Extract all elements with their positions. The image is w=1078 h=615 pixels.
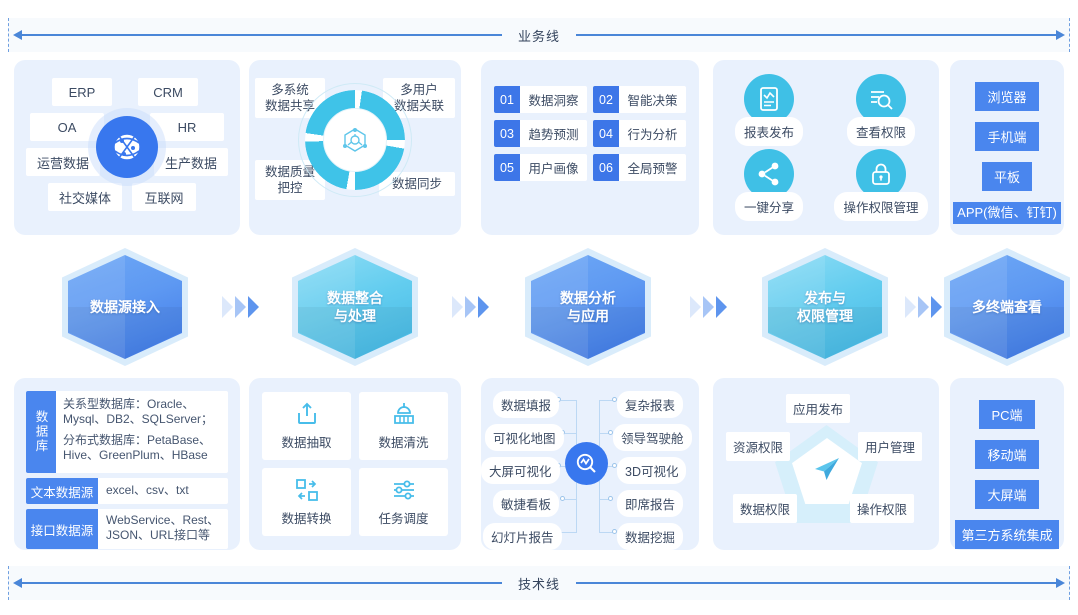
axis-line-left [22, 34, 502, 36]
flow-label-line-2: 与应用 [560, 307, 616, 325]
client-tag-list: PC端 移动端 大屏端 第三方系统集成 [950, 400, 1064, 549]
flow-step-label: 数据整合 与处理 [292, 248, 418, 366]
flow-step-label: 数据源接入 [62, 248, 188, 366]
analysis-item-03[interactable]: 03 趋势预测 [494, 120, 587, 147]
app-label-slide-report[interactable]: 幻灯片报告 [483, 523, 562, 550]
item-label: 趋势预测 [520, 124, 587, 143]
business-line-label: 业务线 [502, 26, 576, 45]
flow-label-line-1: 发布与 [797, 289, 853, 307]
item-number-badge: 01 [494, 86, 520, 113]
terminal-tag-browser[interactable]: 浏览器 [975, 82, 1038, 111]
app-label-agile-dashboard[interactable]: 敏捷看板 [493, 490, 559, 517]
processing-tile-label: 数据清洗 [378, 432, 428, 451]
technology-line-axis: 技术线 [8, 566, 1070, 600]
source-chip-production-data[interactable]: 生产数据 [154, 148, 228, 176]
panel-permission-management: 应用发布 资源权限 用户管理 数据权限 操作权限 [713, 378, 939, 550]
flow-step-data-analysis[interactable]: 数据分析 与应用 [525, 248, 651, 366]
flow-arrow-4 [905, 296, 942, 318]
app-label-data-entry[interactable]: 数据填报 [493, 391, 559, 418]
panel-data-sources-tech: 数据库 关系型数据库：Oracle、Mysql、DB2、SQLServer； 分… [14, 378, 240, 550]
db-row-value: excel、csv、txt [98, 478, 228, 504]
item-label: 行为分析 [619, 124, 686, 143]
mm-branch-l5 [561, 532, 577, 533]
integration-donut-chart [305, 90, 405, 190]
analysis-item-01[interactable]: 01 数据洞察 [494, 86, 587, 113]
db-row-database[interactable]: 数据库 关系型数据库：Oracle、Mysql、DB2、SQLServer； 分… [26, 391, 228, 473]
publish-item-view-permission[interactable]: 查看权限 [831, 74, 931, 146]
flow-step-multi-terminal-view[interactable]: 多终端查看 [944, 248, 1070, 366]
flow-step-label: 多终端查看 [944, 248, 1070, 366]
db-row-value: WebService、Rest、JSON、URL接口等 [98, 509, 228, 549]
chevron-icon [248, 296, 259, 318]
flow-step-label: 数据分析 与应用 [525, 248, 651, 366]
mm-branch-l2 [565, 433, 577, 434]
item-label: 智能决策 [619, 90, 686, 109]
processing-tile-extract[interactable]: 数据抽取 [262, 392, 351, 460]
item-label: 全局预警 [619, 158, 686, 177]
client-tag-mobile[interactable]: 移动端 [975, 440, 1038, 469]
client-tag-pc[interactable]: PC端 [979, 400, 1034, 429]
app-label-executive-cockpit[interactable]: 领导驾驶舱 [613, 424, 692, 451]
source-chip-crm[interactable]: CRM [138, 78, 198, 106]
item-label: 用户画像 [520, 158, 587, 177]
broom-clean-icon [391, 401, 417, 427]
network-globe-icon [96, 116, 158, 178]
business-line-axis: 业务线 [8, 18, 1070, 52]
flow-label-line-1: 数据源接入 [90, 298, 160, 316]
chevron-icon [478, 296, 489, 318]
client-tag-third-party[interactable]: 第三方系统集成 [955, 520, 1059, 549]
processing-tile-clean[interactable]: 数据清洗 [359, 392, 448, 460]
panel-data-application: 数据填报 可视化地图 大屏可视化 敏捷看板 幻灯片报告 复杂报表 领导驾驶舱 3… [481, 378, 699, 550]
item-label: 数据洞察 [520, 90, 587, 109]
axis-line-left [22, 582, 502, 584]
flow-arrow-3 [690, 296, 727, 318]
process-flow-row: 数据源接入 数据整合 与处理 [0, 248, 1078, 368]
app-label-adhoc-report[interactable]: 即席报告 [617, 490, 683, 517]
flow-label-line-1: 数据整合 [327, 289, 383, 307]
panel-terminals: 浏览器 手机端 平板 APP(微信、钉钉) [950, 60, 1064, 235]
axis-line-right [576, 582, 1056, 584]
app-label-data-mining[interactable]: 数据挖掘 [617, 523, 683, 550]
terminal-tag-mobile[interactable]: 手机端 [975, 122, 1038, 151]
chevron-icon [703, 296, 714, 318]
panel-data-sources: ERP CRM OA HR 运营数据 生产数据 社交媒体 互联网 [14, 60, 240, 235]
permission-label-data[interactable]: 数据权限 [733, 494, 797, 523]
arrow-right-icon [1056, 578, 1065, 588]
item-number-badge: 04 [593, 120, 619, 147]
technology-line-label: 技术线 [502, 574, 576, 593]
upload-extract-icon [294, 401, 320, 427]
data-hub-icon [323, 108, 387, 172]
db-row-value: 关系型数据库：Oracle、Mysql、DB2、SQLServer； 分布式数据… [56, 391, 228, 473]
terminal-tag-tablet[interactable]: 平板 [982, 162, 1032, 191]
flow-step-data-integration[interactable]: 数据整合 与处理 [292, 248, 418, 366]
publish-item-share[interactable]: 一键分享 [719, 149, 819, 221]
chevron-icon [905, 296, 916, 318]
source-chip-internet[interactable]: 互联网 [132, 183, 196, 211]
analysis-item-02[interactable]: 02 智能决策 [593, 86, 686, 113]
mm-node-dot [608, 496, 613, 501]
permission-label-app-publish[interactable]: 应用发布 [786, 394, 850, 423]
chevron-icon [235, 296, 246, 318]
source-chip-social-media[interactable]: 社交媒体 [48, 183, 122, 211]
panel-publish-permission: 报表发布 查看权限 一键分享 [713, 60, 939, 235]
panel-data-processing: 数据抽取 数据清洗 数据转换 [249, 378, 461, 550]
analysis-item-05[interactable]: 05 用户画像 [494, 154, 587, 181]
permission-label-operation[interactable]: 操作权限 [850, 494, 914, 523]
client-tag-bigscreen[interactable]: 大屏端 [975, 480, 1038, 509]
item-number-badge: 05 [494, 154, 520, 181]
terminal-tag-app[interactable]: APP(微信、钉钉) [953, 202, 1061, 224]
chevron-icon [465, 296, 476, 318]
flow-label-line-2: 权限管理 [797, 307, 853, 325]
chevron-icon [931, 296, 942, 318]
app-label-bigscreen-visual[interactable]: 大屏可视化 [481, 457, 560, 484]
mm-branch-l4 [565, 499, 577, 500]
publish-item-label: 一键分享 [735, 192, 803, 221]
sliders-schedule-icon [391, 477, 417, 503]
db-row-key: 文本数据源 [26, 478, 98, 504]
source-chip-operations-data[interactable]: 运营数据 [26, 148, 100, 176]
publish-item-label: 查看权限 [847, 117, 915, 146]
db-row-key: 数据库 [26, 391, 56, 473]
db-value-line: 关系型数据库：Oracle、Mysql、DB2、SQLServer； [63, 397, 221, 427]
db-row-api-source[interactable]: 接口数据源 WebService、Rest、JSON、URL接口等 [26, 509, 228, 549]
flow-label-line-1: 多终端查看 [972, 298, 1042, 316]
application-mindmap: 数据填报 可视化地图 大屏可视化 敏捷看板 幻灯片报告 复杂报表 领导驾驶舱 3… [481, 378, 699, 550]
analytics-magnifier-icon [565, 442, 608, 485]
db-row-key: 接口数据源 [26, 509, 98, 549]
mm-node-dot [560, 496, 565, 501]
flow-arrow-1 [222, 296, 259, 318]
flow-step-data-source-access[interactable]: 数据源接入 [62, 248, 188, 366]
db-row-text-source[interactable]: 文本数据源 excel、csv、txt [26, 478, 228, 504]
source-chip-erp[interactable]: ERP [52, 78, 112, 106]
panel-data-analysis: 01 数据洞察 02 智能决策 03 趋势预测 04 行为分析 05 用户画像 … [481, 60, 699, 235]
publish-item-label: 操作权限管理 [834, 192, 927, 221]
chevron-icon [716, 296, 727, 318]
analysis-item-06[interactable]: 06 全局预警 [593, 154, 686, 181]
processing-tile-label: 任务调度 [378, 508, 428, 527]
source-chip-oa[interactable]: OA [30, 113, 104, 141]
analysis-item-04[interactable]: 04 行为分析 [593, 120, 686, 147]
flow-label-line-2: 与处理 [327, 307, 383, 325]
source-chip-hr[interactable]: HR [150, 113, 224, 141]
permission-label-user-mgmt[interactable]: 用户管理 [858, 432, 922, 461]
mm-branch-l1 [561, 400, 577, 401]
chevron-icon [918, 296, 929, 318]
arrow-left-icon [13, 30, 22, 40]
processing-tile-schedule[interactable]: 任务调度 [359, 468, 448, 536]
item-number-badge: 03 [494, 120, 520, 147]
app-label-visual-map[interactable]: 可视化地图 [485, 424, 564, 451]
terminal-tag-list: 浏览器 手机端 平板 APP(微信、钉钉) [950, 82, 1064, 224]
arrow-left-icon [13, 578, 22, 588]
flow-label-line-1: 数据分析 [560, 289, 616, 307]
publish-item-operation-permission[interactable]: 操作权限管理 [831, 149, 931, 221]
arrow-right-icon [1056, 30, 1065, 40]
db-value-line: 分布式数据库：PetaBase、Hive、GreenPlum、HBase [63, 433, 221, 463]
analysis-item-grid: 01 数据洞察 02 智能决策 03 趋势预测 04 行为分析 05 用户画像 … [494, 86, 686, 181]
app-label-complex-report[interactable]: 复杂报表 [617, 391, 683, 418]
flow-step-publish-permission[interactable]: 发布与 权限管理 [762, 248, 888, 366]
panel-client-endpoints: PC端 移动端 大屏端 第三方系统集成 [950, 378, 1064, 550]
axis-line-right [576, 34, 1056, 36]
permission-label-resource[interactable]: 资源权限 [726, 432, 790, 461]
chevron-icon [690, 296, 701, 318]
chevron-icon [452, 296, 463, 318]
transform-swap-icon [294, 477, 320, 503]
flow-step-label: 发布与 权限管理 [762, 248, 888, 366]
item-number-badge: 02 [593, 86, 619, 113]
processing-tile-label: 数据转换 [281, 508, 331, 527]
app-label-3d-visual[interactable]: 3D可视化 [617, 457, 686, 484]
chevron-icon [222, 296, 233, 318]
panel-data-integration: 多系统 数据共享 多用户 数据关联 数据质量 把控 数据同步 [249, 60, 461, 235]
publish-item-label: 报表发布 [735, 117, 803, 146]
processing-tile-label: 数据抽取 [281, 432, 331, 451]
processing-tile-grid: 数据抽取 数据清洗 数据转换 [262, 392, 448, 536]
flow-arrow-2 [452, 296, 489, 318]
publish-item-report[interactable]: 报表发布 [719, 74, 819, 146]
processing-tile-transform[interactable]: 数据转换 [262, 468, 351, 536]
item-number-badge: 06 [593, 154, 619, 181]
infographic-root: 业务线 ERP CRM OA HR 运营数据 生产数据 社交媒体 互联网 多系统… [0, 0, 1078, 615]
